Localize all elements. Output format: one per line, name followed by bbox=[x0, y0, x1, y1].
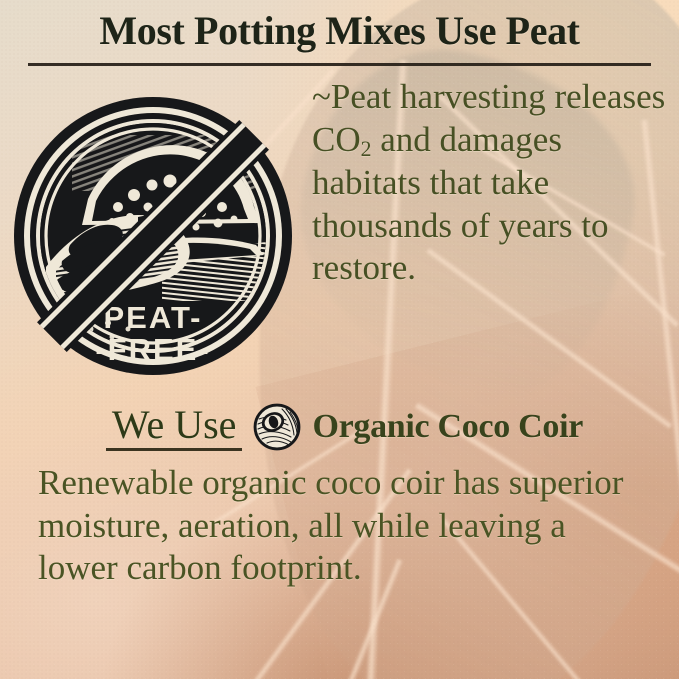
co2-subscript: 2 bbox=[361, 136, 372, 160]
organic-coco-coir-label: Organic Coco Coir bbox=[312, 408, 583, 446]
page-title: Most Potting Mixes Use Peat bbox=[0, 7, 679, 54]
we-use-label: We Use bbox=[106, 404, 243, 451]
coir-paragraph: Renewable organic coco coir has superior… bbox=[38, 462, 646, 590]
coconut-icon bbox=[253, 403, 301, 451]
infographic-content: Most Potting Mixes Use Peat bbox=[0, 0, 679, 679]
title-underline-rule bbox=[28, 63, 651, 66]
we-use-row: We Use bbox=[0, 398, 679, 456]
badge-line-2: -FREE- bbox=[95, 332, 210, 367]
peat-free-infographic: Most Potting Mixes Use Peat bbox=[0, 0, 679, 679]
badge-line-1: PEAT- bbox=[104, 300, 203, 335]
peat-free-badge: PEAT- -FREE- bbox=[12, 95, 294, 377]
badge-wordmark: PEAT- -FREE- bbox=[95, 300, 210, 367]
peat-paragraph: ~Peat harvesting releases CO2 and damage… bbox=[312, 76, 676, 290]
